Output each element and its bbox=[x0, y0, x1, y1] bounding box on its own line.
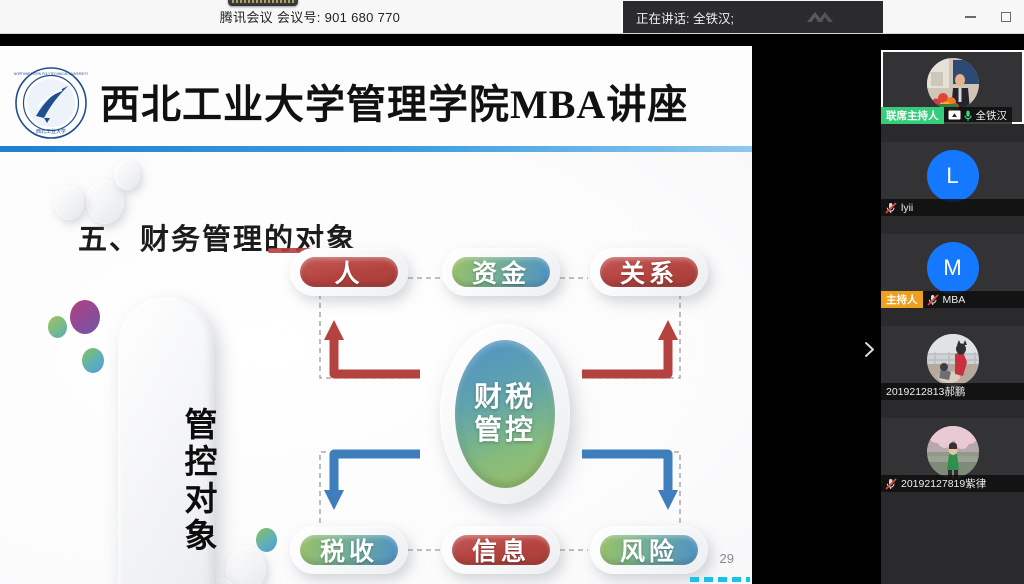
diagram-node-label: 税收 bbox=[300, 535, 398, 565]
shared-screen-slide[interactable]: 西北工业大学 NORTHWESTERN POLYTECHNICAL UNIVER… bbox=[0, 46, 752, 584]
center-node-line-1: 财税 bbox=[474, 382, 536, 413]
tile-status-icons bbox=[881, 202, 901, 214]
diagram-node-bottom-2[interactable]: 信息 bbox=[442, 526, 560, 574]
microphone-icon bbox=[964, 110, 972, 122]
decorative-bubble bbox=[70, 300, 100, 334]
decorative-bubble bbox=[82, 348, 104, 373]
center-node-line-2: 管控 bbox=[474, 415, 536, 446]
tile-spacer bbox=[881, 124, 1024, 142]
slide-body: 五、财务管理的对象 bbox=[0, 152, 752, 584]
participant-name: 20192127819紫律 bbox=[901, 476, 991, 491]
decorative-bubble bbox=[256, 528, 277, 552]
avatar: M bbox=[927, 242, 979, 294]
participant-name: 全铁汉 bbox=[976, 108, 1013, 123]
participant-name: 2019212813郝鹏 bbox=[881, 384, 970, 399]
active-speaker-banner: 正在讲话: 全铁汉; bbox=[621, 1, 883, 33]
left-capsule-label: 管控对象 bbox=[118, 361, 214, 584]
diagram-node-top-3[interactable]: 关系 bbox=[590, 248, 708, 296]
slide-page-number: 29 bbox=[720, 551, 734, 566]
diagram-node-top-1[interactable]: 人 bbox=[290, 248, 408, 296]
avatar-initial: L bbox=[946, 163, 958, 189]
tile-footer: 2019212813郝鹏 bbox=[881, 383, 1024, 400]
tencent-meeting-window: 腾讯会议 会议号: 901 680 770 正在讲话: 全铁汉; bbox=[0, 0, 1024, 584]
tencent-meeting-logo-icon bbox=[797, 8, 839, 27]
participant-name: MBA bbox=[943, 294, 971, 306]
diagram-node-label: 信息 bbox=[452, 535, 550, 565]
diagram-node-bottom-1[interactable]: 税收 bbox=[290, 526, 408, 574]
svg-text:NORTHWESTERN POLYTECHNICAL UNI: NORTHWESTERN POLYTECHNICAL UNIVERSITY bbox=[14, 72, 88, 76]
participant-tile[interactable]: 20192127819紫律 bbox=[881, 418, 1024, 492]
tile-status-icons bbox=[923, 294, 943, 306]
active-speaker-label: 正在讲话: 全铁汉; bbox=[636, 8, 734, 27]
window-controls bbox=[952, 0, 1024, 33]
slide-header: 西北工业大学 NORTHWESTERN POLYTECHNICAL UNIVER… bbox=[0, 46, 752, 146]
participant-rail[interactable]: 联席主持人 全铁汉 bbox=[881, 50, 1024, 584]
tile-footer: lyii bbox=[881, 199, 1024, 216]
role-badge: 主持人 bbox=[881, 291, 923, 308]
participant-tile[interactable]: 2019212813郝鹏 bbox=[881, 326, 1024, 400]
meeting-stage: 西北工业大学 NORTHWESTERN POLYTECHNICAL UNIVER… bbox=[0, 34, 1024, 584]
avatar bbox=[927, 58, 979, 110]
minimize-button[interactable] bbox=[952, 0, 988, 33]
participant-tile[interactable]: 联席主持人 全铁汉 bbox=[881, 50, 1024, 124]
maximize-icon bbox=[1001, 12, 1011, 22]
slide-org-title: 西北工业大学管理学院MBA讲座 bbox=[100, 64, 740, 138]
avatar bbox=[927, 334, 979, 386]
footer-dash-decoration bbox=[690, 577, 750, 582]
avatar-initial: M bbox=[943, 255, 961, 281]
microphone-muted-icon bbox=[885, 202, 897, 214]
participant-tile[interactable]: L lyii bbox=[881, 142, 1024, 216]
participant-name: lyii bbox=[901, 202, 918, 214]
window-titlebar: 腾讯会议 会议号: 901 680 770 正在讲话: 全铁汉; bbox=[0, 0, 1024, 34]
meeting-info-label: 腾讯会议 会议号: 901 680 770 bbox=[0, 0, 620, 33]
diagram-center-node[interactable]: 财税 管控 bbox=[440, 324, 570, 504]
diagram-node-label: 资金 bbox=[452, 257, 550, 287]
avatar bbox=[927, 426, 979, 478]
tile-footer: 联席主持人 全铁汉 bbox=[881, 107, 1012, 124]
svg-text:西北工业大学: 西北工业大学 bbox=[36, 128, 66, 135]
diagram-node-top-2[interactable]: 资金 bbox=[442, 248, 560, 296]
decorative-bubble bbox=[226, 546, 266, 584]
tile-spacer bbox=[881, 308, 1024, 326]
tile-spacer bbox=[881, 400, 1024, 418]
decorative-bubble bbox=[48, 316, 67, 338]
microphone-muted-icon bbox=[927, 294, 939, 306]
microphone-muted-icon bbox=[885, 478, 897, 490]
diagram-node-label: 人 bbox=[300, 257, 398, 287]
diagram-node-label: 风险 bbox=[600, 535, 698, 565]
chevron-right-icon bbox=[864, 341, 875, 358]
diagram-node-label: 关系 bbox=[600, 257, 698, 287]
tile-spacer bbox=[881, 216, 1024, 234]
nwpu-university-seal-icon: 西北工业大学 NORTHWESTERN POLYTECHNICAL UNIVER… bbox=[14, 66, 88, 140]
participant-tile[interactable]: M 主持人 MBA bbox=[881, 234, 1024, 308]
center-node-inner: 财税 管控 bbox=[455, 340, 555, 488]
decorative-bubble bbox=[114, 160, 140, 190]
role-badge: 联席主持人 bbox=[881, 107, 944, 124]
left-capsule-panel: 管控对象 bbox=[118, 297, 214, 584]
tile-status-icons bbox=[944, 110, 976, 122]
tile-footer: 20192127819紫律 bbox=[881, 475, 1024, 492]
decorative-bubble bbox=[54, 186, 84, 220]
screen-share-icon bbox=[948, 110, 961, 121]
maximize-button[interactable] bbox=[988, 0, 1024, 33]
avatar: L bbox=[927, 150, 979, 202]
tile-footer: 主持人 MBA bbox=[881, 291, 1024, 308]
collapse-rail-button[interactable] bbox=[858, 326, 880, 372]
minimize-icon bbox=[965, 16, 976, 18]
diagram-node-bottom-3[interactable]: 风险 bbox=[590, 526, 708, 574]
tile-status-icons bbox=[881, 478, 901, 490]
